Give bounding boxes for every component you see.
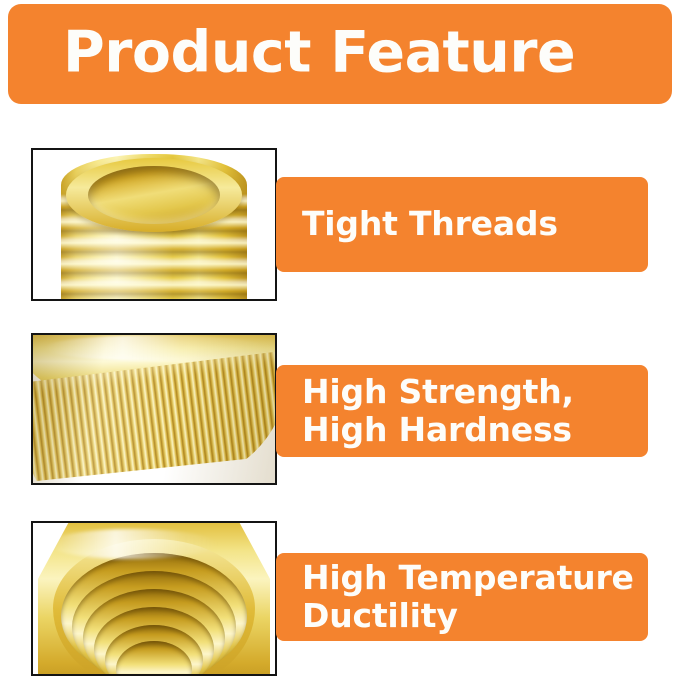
feature-label-3: High Temperature Ductility (276, 559, 634, 636)
brass-female-internal-threads-image (33, 523, 275, 674)
feature-row-high-temperature-ductility: High Temperature Ductility (0, 513, 679, 676)
brass-knurled-flange-image (33, 335, 275, 483)
feature-photo-frame-2 (31, 333, 277, 485)
feature-label-band-2: High Strength, High Hardness (276, 365, 648, 457)
page-title: Product Feature (63, 24, 575, 81)
feature-row-tight-threads: Tight Threads (0, 140, 679, 315)
feature-label-1: Tight Threads (276, 205, 558, 243)
header-banner: Product Feature (8, 4, 672, 104)
feature-photo-frame-3 (31, 521, 277, 676)
feature-photo-frame-1 (31, 148, 277, 301)
feature-label-band-3: High Temperature Ductility (276, 553, 648, 641)
feature-label-2: High Strength, High Hardness (276, 373, 574, 450)
feature-label-band-1: Tight Threads (276, 177, 648, 272)
feature-row-high-strength: High Strength, High Hardness (0, 325, 679, 500)
brass-male-threaded-fitting-image (33, 150, 275, 299)
fitting-bore (88, 166, 220, 224)
product-feature-infographic: Product Feature Tight Threads (0, 0, 679, 676)
